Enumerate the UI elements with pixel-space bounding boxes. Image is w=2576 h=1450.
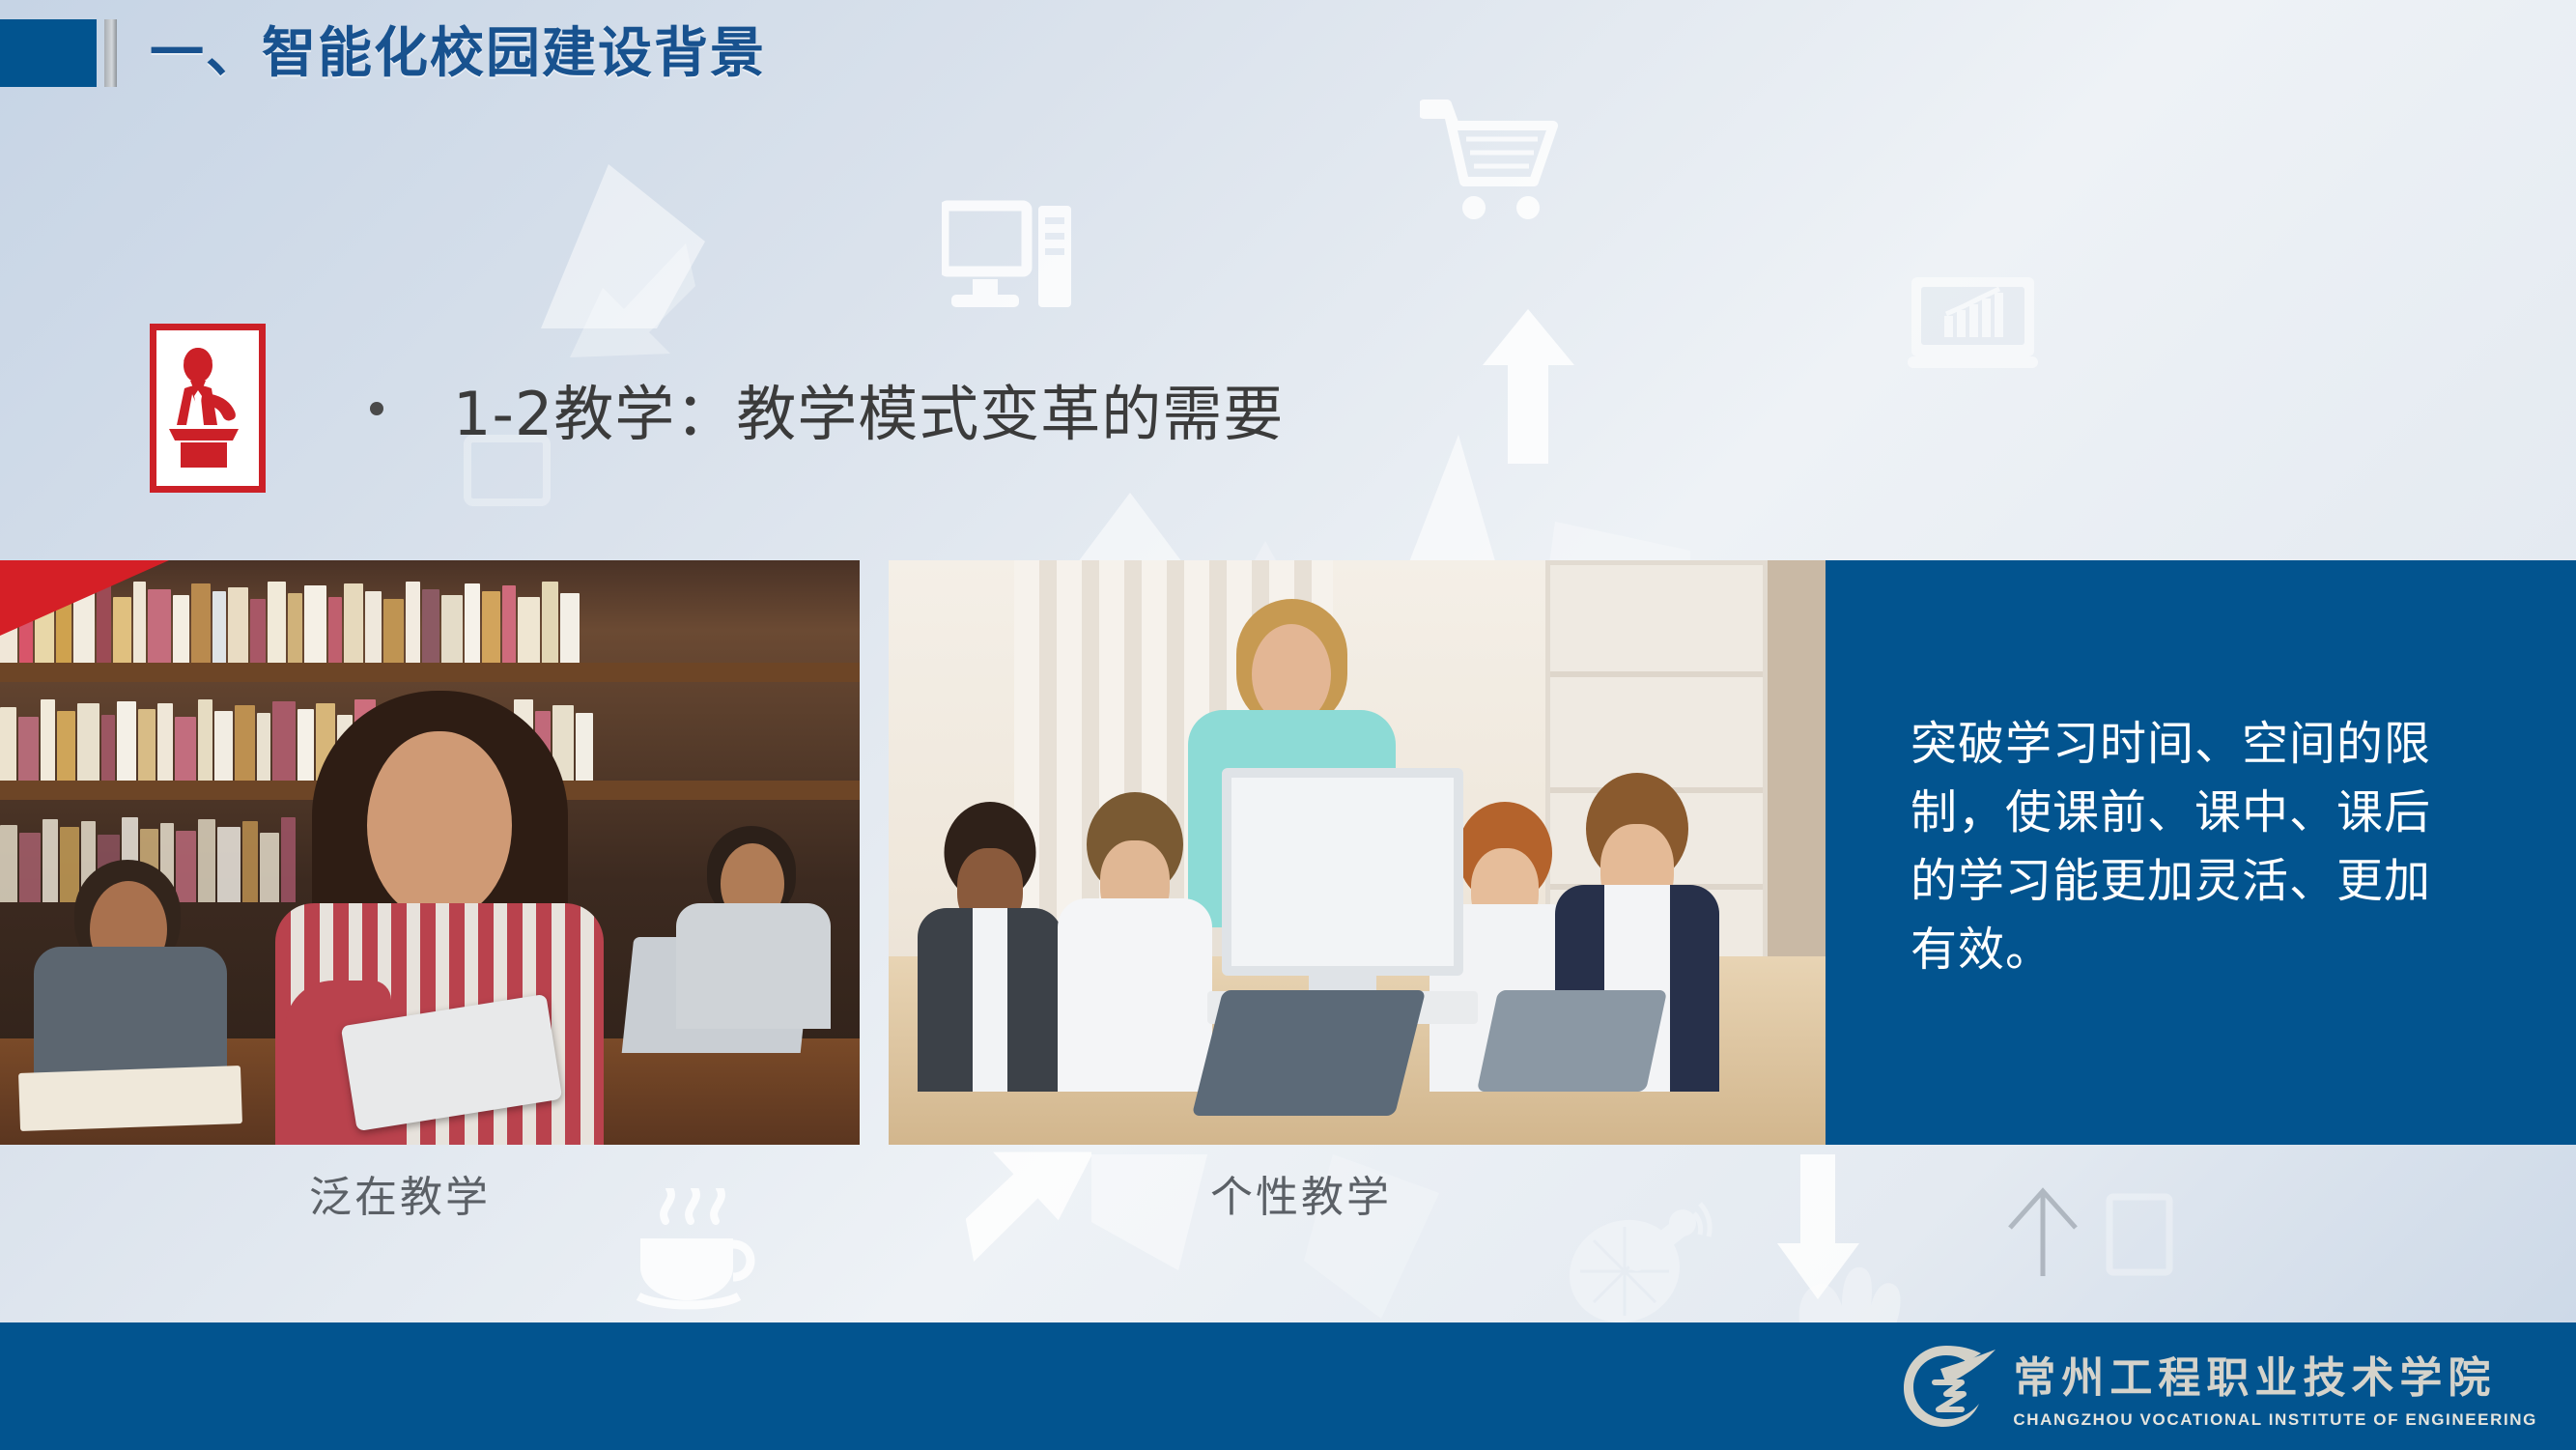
chevron-up-icon (2004, 1183, 2081, 1280)
lecturer-podium-glyph (163, 346, 252, 471)
desktop-computer-icon (942, 198, 1077, 324)
open-book-prop (18, 1066, 242, 1131)
tablet-prop (1192, 990, 1426, 1116)
foreground-student (275, 691, 604, 1145)
slide-header: 一、智能化校园建设背景 (0, 19, 766, 87)
tablet-prop (1477, 990, 1667, 1092)
satellite-dish-icon (1565, 1188, 1719, 1333)
panel-text: 突破学习时间、空间的限制，使课前、课中、课后的学习能更加灵活、更加有效。 (1911, 710, 2451, 984)
header-accent-block (0, 19, 97, 87)
arrow-down-icon (1777, 1154, 1859, 1299)
institution-name-en: CHANGZHOU VOCATIONAL INSTITUTE OF ENGINE… (2013, 1410, 2537, 1430)
media-strip: 突破学习时间、空间的限制，使课前、课中、课后的学习能更加灵活、更加有效。 (0, 560, 2576, 1145)
institution-logo-text: 常州工程职业技术学院 CHANGZHOU VOCATIONAL INSTITUT… (2013, 1343, 2537, 1430)
institution-name-cn: 常州工程职业技术学院 (2013, 1343, 2537, 1405)
lecturer-podium-icon (150, 324, 266, 493)
coffee-cup-icon (633, 1188, 758, 1323)
changzhou-cvie-logo-mark (1896, 1340, 1997, 1432)
student-right (676, 826, 831, 1029)
caption-photo-b: 个性教学 (1210, 1162, 1392, 1224)
arrow-diagonal-icon (966, 1150, 1091, 1275)
header-accent-bar (104, 19, 117, 87)
bullet-row: 1-2教学：教学模式变革的需要 (150, 324, 1284, 493)
red-corner-accent (0, 560, 169, 636)
student-figure (918, 802, 1062, 1092)
highlight-text-panel: 突破学习时间、空间的限制，使课前、课中、课后的学习能更加灵活、更加有效。 (1826, 560, 2576, 1145)
student-left (34, 860, 227, 1092)
library-student-tablet-photo (0, 560, 860, 1145)
laptop-chart-icon (1908, 275, 2038, 372)
bullet-marker (370, 402, 383, 415)
arrow-up-icon (1483, 309, 1574, 464)
page-title: 一、智能化校园建设背景 (150, 19, 766, 87)
slide-footer: 常州工程职业技术学院 CHANGZHOU VOCATIONAL INSTITUT… (0, 1322, 2576, 1450)
imac-display (1222, 768, 1463, 976)
paper-shape-top (541, 126, 792, 328)
document-icon (2106, 1193, 2173, 1276)
institution-logo: 常州工程职业技术学院 CHANGZHOU VOCATIONAL INSTITUT… (1896, 1340, 2537, 1432)
classroom-students-imac-photo (889, 560, 1826, 1145)
shopping-cart-icon (1420, 97, 1560, 222)
student-figure (1058, 792, 1212, 1092)
caption-photo-a: 泛在教学 (309, 1162, 491, 1224)
presentation-slide: 一、智能化校园建设背景 (0, 0, 2576, 1450)
bullet-text: 1-2教学：教学模式变革的需要 (453, 365, 1284, 452)
